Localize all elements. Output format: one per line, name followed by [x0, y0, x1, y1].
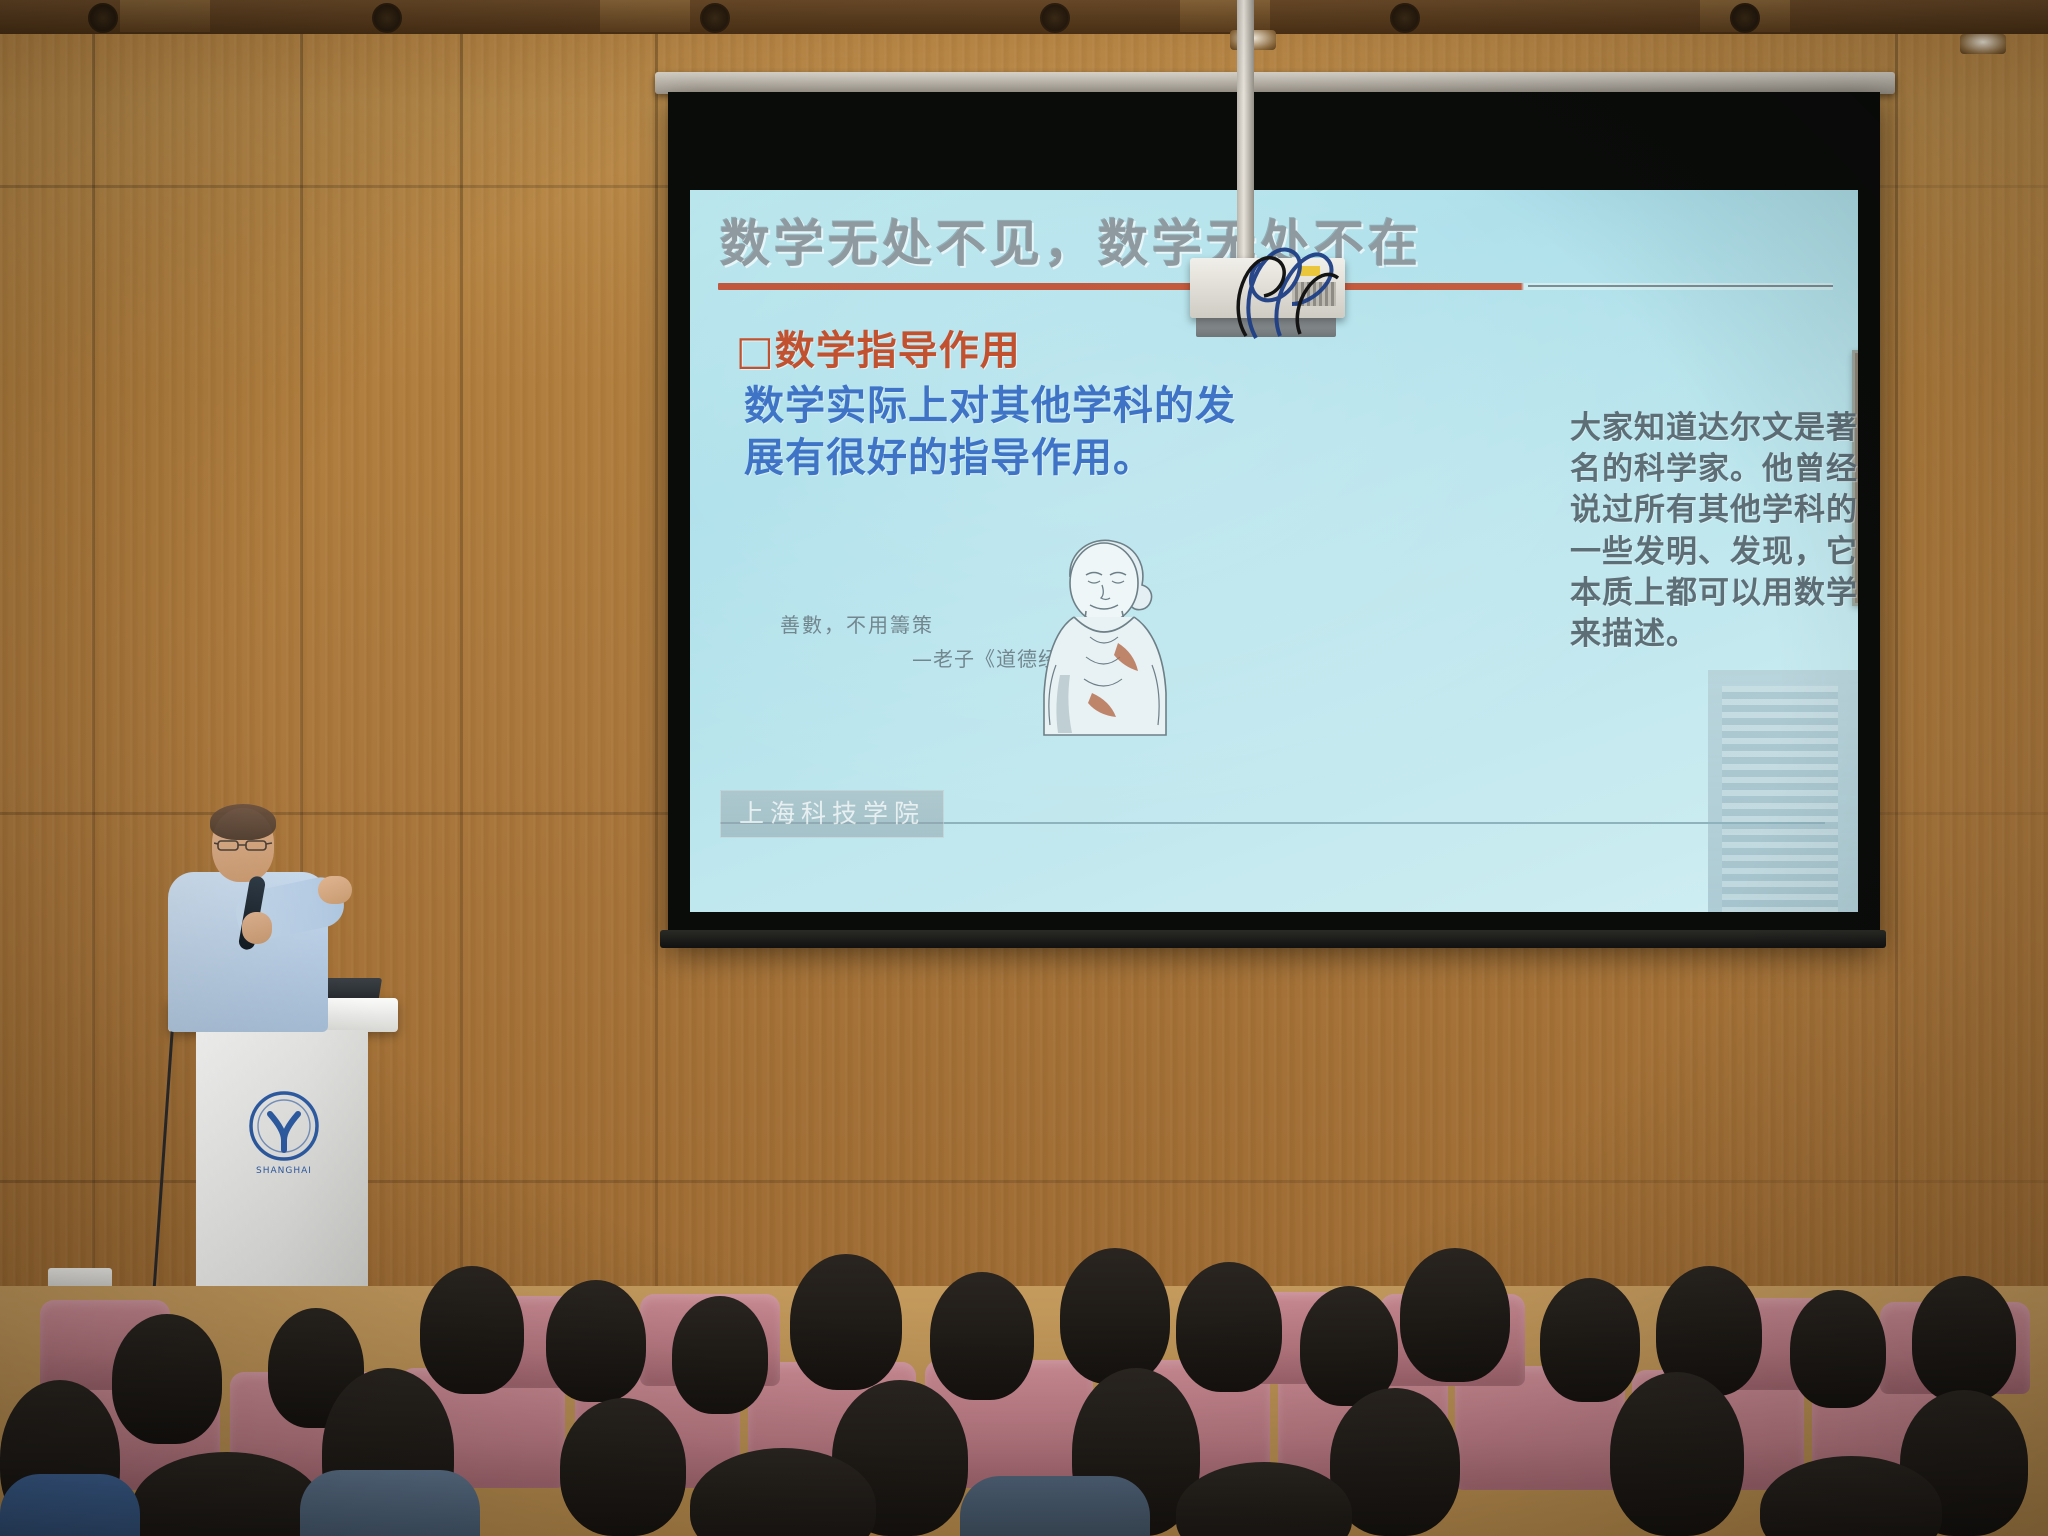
ceiling-panel	[600, 0, 690, 32]
audience-head	[1610, 1372, 1744, 1536]
audience-shoulder	[960, 1476, 1150, 1536]
lecture-hall-scene: 数学无处不见，数学无处不在 □数学指导作用 数学实际上对其他学科的发展有很好的指…	[0, 0, 2048, 1536]
screen-bottom-bar	[660, 930, 1886, 948]
audience-head	[1176, 1262, 1282, 1392]
audience-head	[1540, 1278, 1640, 1402]
ceiling-spotlight-icon	[372, 3, 402, 33]
audience-head	[672, 1296, 768, 1414]
speaker-gesturing-hand	[318, 876, 352, 904]
audience-head	[1400, 1248, 1510, 1382]
screen-roller-housing	[655, 72, 1895, 94]
audience-head	[560, 1398, 686, 1536]
speaker-hair	[210, 804, 276, 840]
wall-panel-seam	[92, 0, 95, 1290]
audience-head	[1060, 1248, 1170, 1384]
audience-shoulder	[0, 1474, 140, 1536]
ceiling-panel	[1180, 0, 1270, 32]
wall-panel-seam	[655, 0, 658, 1290]
audience-head	[546, 1280, 646, 1402]
title-divider-thin	[1528, 285, 1833, 287]
ceiling-light	[1960, 34, 2006, 54]
ceiling-spotlight-icon	[1040, 3, 1070, 33]
audience-head	[1300, 1286, 1398, 1406]
laozi-quote-text: 善數，不用籌策	[780, 613, 934, 637]
audience-head	[790, 1254, 902, 1390]
audience-head	[1912, 1276, 2016, 1402]
ceiling-spotlight-icon	[88, 3, 118, 33]
audience-head	[112, 1314, 222, 1444]
watermark-text: 上海科技学院	[721, 791, 943, 837]
slide-dark-paragraph: 大家知道达尔文是著名的科学家。他曾经说过所有其他学科的一些发明、发现，它本质上都…	[1570, 408, 1858, 655]
audience-shoulder	[300, 1470, 480, 1536]
campus-building-graphic	[1708, 670, 1858, 912]
slide-blue-paragraph: 数学实际上对其他学科的发展有很好的指导作用。	[744, 380, 1264, 484]
podium-body	[196, 1030, 368, 1300]
projector-cables	[1160, 200, 1380, 340]
audience-head	[1790, 1290, 1886, 1408]
slide-footer-watermark: 上海科技学院	[720, 790, 944, 838]
audience-head	[930, 1272, 1034, 1400]
speaker-mic-hand	[242, 912, 272, 944]
audience-head	[420, 1266, 524, 1394]
ceiling-spotlight-icon	[1390, 3, 1420, 33]
wall-panel-seam	[1895, 0, 1898, 1290]
ceiling-spotlight-icon	[700, 3, 730, 33]
wall-panel-seam	[460, 0, 463, 1290]
podium-logo-label: SHANGHAI	[228, 1166, 340, 1176]
glasses-icon	[214, 838, 274, 852]
slide-bullet-heading: □数学指导作用	[736, 318, 1021, 376]
ceiling-spotlight-icon	[1730, 3, 1760, 33]
ceiling-panel	[120, 0, 210, 32]
university-logo-icon	[248, 1090, 320, 1162]
laozi-sage-illustration-icon	[1000, 525, 1200, 745]
